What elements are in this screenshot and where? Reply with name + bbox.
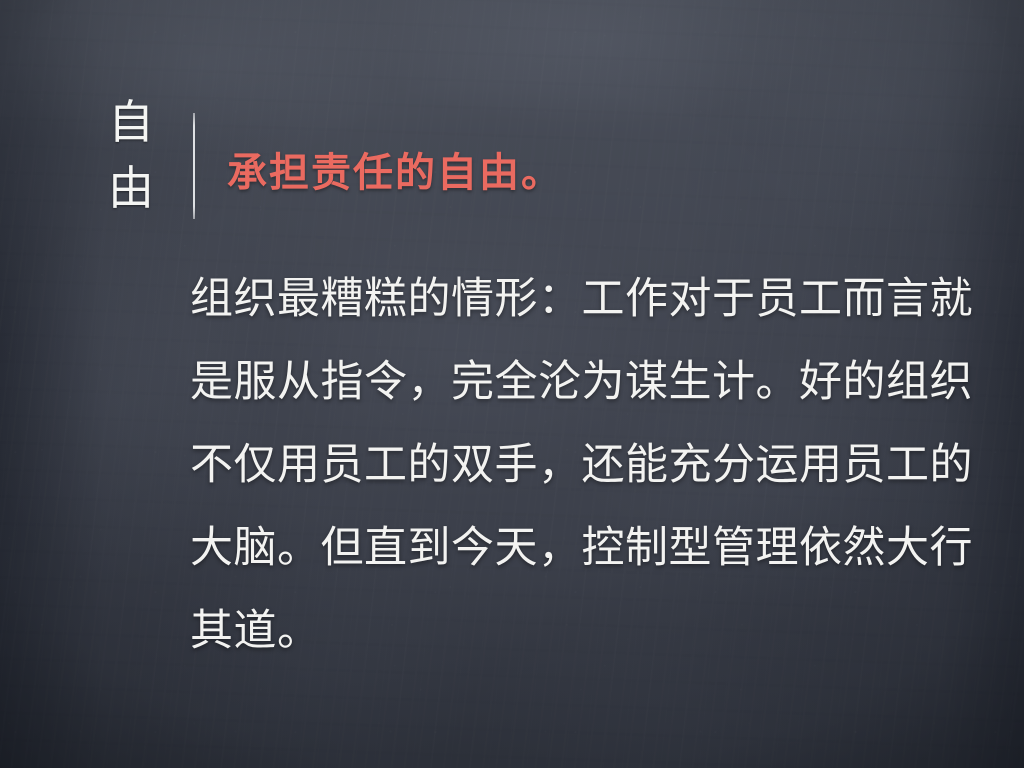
section-label-char-2: 由 xyxy=(108,166,154,212)
vertical-divider-rule xyxy=(193,113,195,219)
body-line: 其道。 xyxy=(190,590,910,673)
section-label-vertical: 自 由 xyxy=(108,100,154,212)
body-line: 大脑。但直到今天，控制型管理依然大行 xyxy=(190,507,910,590)
body-line: 组织最糟糕的情形：工作对于员工而言就 xyxy=(190,258,910,341)
body-line: 是服从指令，完全沦为谋生计。好的组织 xyxy=(190,341,910,424)
slide-body-paragraph: 组织最糟糕的情形：工作对于员工而言就 是服从指令，完全沦为谋生计。好的组织 不仅… xyxy=(190,258,910,673)
slide-headline: 承担责任的自由。 xyxy=(227,140,563,198)
presentation-slide: 自 由 承担责任的自由。 组织最糟糕的情形：工作对于员工而言就 是服从指令，完全… xyxy=(0,0,1024,768)
slide-header: 自 由 承担责任的自由。 xyxy=(108,100,563,219)
section-label-char-1: 自 xyxy=(108,100,154,146)
body-line: 不仅用员工的双手，还能充分运用员工的 xyxy=(190,424,910,507)
